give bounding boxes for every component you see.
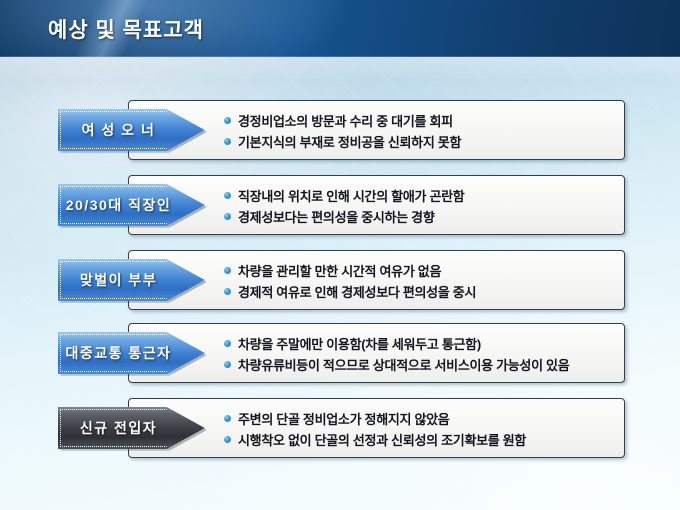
segment-label-text: 대중교통 통근자: [65, 343, 171, 363]
bullet-text: 경제적 여유로 인해 경제성보다 편의성을 중시: [238, 282, 476, 301]
segment-label-text: 20/30대 직장인: [66, 195, 171, 215]
bullet-text: 차량을 주말에만 이용함(차를 세워두고 통근함): [238, 334, 481, 353]
bullet-item: 경제성보다는 편의성을 중시하는 경향: [224, 206, 616, 227]
bullet-item: 차량을 주말에만 이용함(차를 세워두고 통근함): [224, 333, 616, 354]
bullet-list: 직장내의 위치로 인해 시간의 할애가 곤란함경제성보다는 편의성을 중시하는 …: [224, 185, 616, 227]
slide-title-bar: 예상 및 목표고객: [0, 0, 680, 57]
presentation-slide: 예상 및 목표고객 경정비업소의 방문과 수리 중 대기를 회피기본지식의 부재…: [0, 0, 680, 510]
bullet-dot-icon: [224, 267, 231, 274]
bullet-text: 차량을 관리할 만한 시간적 여유가 없음: [238, 261, 441, 280]
segment-label-text: 신규 전입자: [80, 418, 157, 438]
bullet-dot-icon: [224, 288, 231, 295]
bullet-item: 차량유류비등이 적으므로 상대적으로 서비스이용 가능성이 있음: [224, 354, 616, 375]
bullet-item: 주변의 단골 정비업소가 정해지지 않았음: [224, 408, 616, 429]
bullet-item: 경정비업소의 방문과 수리 중 대기를 회피: [224, 110, 616, 131]
bullet-item: 직장내의 위치로 인해 시간의 할애가 곤란함: [224, 185, 616, 206]
bullet-dot-icon: [224, 361, 231, 368]
bullet-text: 기본지식의 부재로 정비공을 신뢰하지 못함: [238, 132, 461, 151]
segment-label-text: 맞벌이 부부: [80, 270, 157, 290]
bullet-dot-icon: [224, 138, 231, 145]
bullet-text: 경제성보다는 편의성을 중시하는 경향: [238, 207, 435, 226]
bullet-list: 주변의 단골 정비업소가 정해지지 않았음시행착오 없이 단골의 선정과 신뢰성…: [224, 408, 616, 450]
bullet-item: 시행착오 없이 단골의 선정과 신뢰성의 조기확보를 원함: [224, 429, 616, 450]
bullet-dot-icon: [224, 436, 231, 443]
bullet-dot-icon: [224, 192, 231, 199]
bullet-text: 차량유류비등이 적으므로 상대적으로 서비스이용 가능성이 있음: [238, 355, 569, 374]
bullet-text: 시행착오 없이 단골의 선정과 신뢰성의 조기확보를 원함: [238, 430, 526, 449]
bullet-dot-icon: [224, 117, 231, 124]
bullet-text: 경정비업소의 방문과 수리 중 대기를 회피: [238, 111, 453, 130]
bullet-dot-icon: [224, 340, 231, 347]
page-title: 예상 및 목표고객: [48, 14, 204, 44]
bullet-text: 직장내의 위치로 인해 시간의 할애가 곤란함: [238, 186, 464, 205]
segment-label-text: 여 성 오 너: [82, 120, 156, 140]
bullet-dot-icon: [224, 415, 231, 422]
bullet-list: 경정비업소의 방문과 수리 중 대기를 회피기본지식의 부재로 정비공을 신뢰하…: [224, 110, 616, 152]
bullet-item: 경제적 여유로 인해 경제성보다 편의성을 중시: [224, 281, 616, 302]
bullet-item: 기본지식의 부재로 정비공을 신뢰하지 못함: [224, 131, 616, 152]
bullet-text: 주변의 단골 정비업소가 정해지지 않았음: [238, 409, 449, 428]
bullet-list: 차량을 주말에만 이용함(차를 세워두고 통근함)차량유류비등이 적으므로 상대…: [224, 333, 616, 375]
bullet-dot-icon: [224, 213, 231, 220]
bullet-list: 차량을 관리할 만한 시간적 여유가 없음경제적 여유로 인해 경제성보다 편의…: [224, 260, 616, 302]
bullet-item: 차량을 관리할 만한 시간적 여유가 없음: [224, 260, 616, 281]
